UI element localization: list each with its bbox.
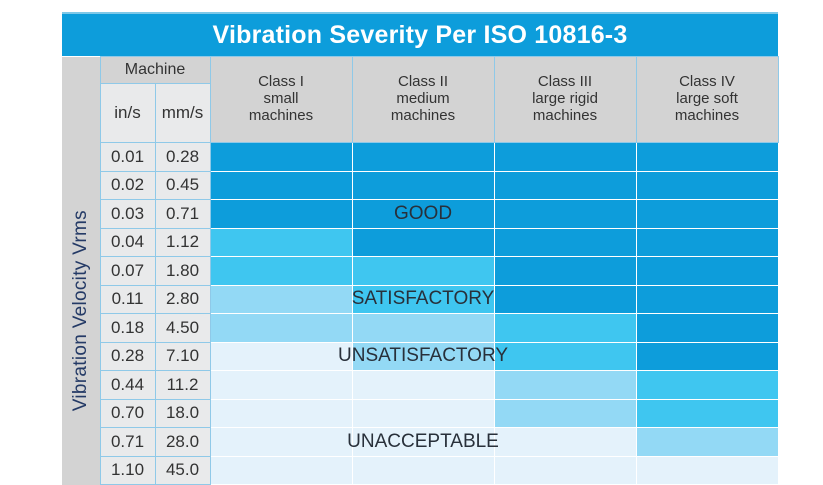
severity-cell-class-iv bbox=[636, 228, 778, 257]
severity-cell-class-iii bbox=[494, 200, 636, 229]
severity-cell-class-ii bbox=[352, 257, 494, 286]
severity-cell-class-iii bbox=[494, 428, 636, 457]
cell-in-s: 1.10 bbox=[100, 456, 155, 485]
severity-cell-class-i bbox=[210, 456, 352, 485]
severity-cell-class-ii bbox=[352, 399, 494, 428]
cell-in-s: 0.18 bbox=[100, 314, 155, 343]
severity-cell-class-ii: SATISFACTORY bbox=[352, 285, 494, 314]
severity-cell-class-ii bbox=[352, 314, 494, 343]
severity-cell-class-i bbox=[210, 314, 352, 343]
severity-cell-class-iii bbox=[494, 285, 636, 314]
cell-mm-s: 7.10 bbox=[155, 342, 210, 371]
severity-cell-class-iii bbox=[494, 314, 636, 343]
table-row: Vibration Velocity Vrms0.010.28 bbox=[62, 143, 778, 172]
severity-cell-class-i bbox=[210, 143, 352, 172]
y-axis-label: Vibration Velocity Vrms bbox=[70, 210, 92, 411]
header-class-i: Class Ismallmachines bbox=[210, 57, 352, 143]
severity-cell-class-ii: UNACCEPTABLE bbox=[352, 428, 494, 457]
cell-mm-s: 1.80 bbox=[155, 257, 210, 286]
severity-cell-class-iv bbox=[636, 285, 778, 314]
severity-cell-class-iii bbox=[494, 228, 636, 257]
severity-cell-class-i bbox=[210, 399, 352, 428]
header-class-iii: Class IIIlarge rigidmachines bbox=[494, 57, 636, 143]
header-corner-stub bbox=[62, 57, 100, 143]
severity-cell-class-ii bbox=[352, 228, 494, 257]
table-row: 0.184.50 bbox=[62, 314, 778, 343]
header-class-ii: Class IImediummachines bbox=[352, 57, 494, 143]
severity-cell-class-i bbox=[210, 228, 352, 257]
header-machine: Machine bbox=[100, 57, 210, 84]
table-row: 0.287.10UNSATISFACTORY bbox=[62, 342, 778, 371]
severity-cell-class-iii bbox=[494, 257, 636, 286]
cell-mm-s: 2.80 bbox=[155, 285, 210, 314]
header-class-iv: Class IVlarge softmachines bbox=[636, 57, 778, 143]
severity-cell-class-iv bbox=[636, 143, 778, 172]
vibration-severity-chart: Vibration Severity Per ISO 10816-3 Machi… bbox=[62, 12, 778, 482]
cell-in-s: 0.44 bbox=[100, 371, 155, 400]
cell-mm-s: 28.0 bbox=[155, 428, 210, 457]
table-row: 0.041.12 bbox=[62, 228, 778, 257]
severity-cell-class-iii bbox=[494, 456, 636, 485]
table-row: 0.112.80SATISFACTORY bbox=[62, 285, 778, 314]
severity-cell-class-i bbox=[210, 285, 352, 314]
table-row: 1.1045.0 bbox=[62, 456, 778, 485]
band-label: SATISFACTORY bbox=[352, 288, 495, 310]
severity-cell-class-ii bbox=[352, 143, 494, 172]
cell-mm-s: 0.28 bbox=[155, 143, 210, 172]
cell-in-s: 0.01 bbox=[100, 143, 155, 172]
cell-in-s: 0.07 bbox=[100, 257, 155, 286]
table-row: 0.071.80 bbox=[62, 257, 778, 286]
cell-mm-s: 4.50 bbox=[155, 314, 210, 343]
severity-cell-class-iv bbox=[636, 399, 778, 428]
severity-cell-class-iv bbox=[636, 428, 778, 457]
cell-mm-s: 1.12 bbox=[155, 228, 210, 257]
severity-cell-class-iv bbox=[636, 257, 778, 286]
band-label: GOOD bbox=[394, 203, 452, 225]
severity-cell-class-i bbox=[210, 371, 352, 400]
cell-mm-s: 11.2 bbox=[155, 371, 210, 400]
table-row: 0.030.71GOOD bbox=[62, 200, 778, 229]
table-row: 0.020.45 bbox=[62, 171, 778, 200]
severity-cell-class-iii bbox=[494, 143, 636, 172]
severity-cell-class-iv bbox=[636, 314, 778, 343]
severity-cell-class-i bbox=[210, 257, 352, 286]
band-label: UNACCEPTABLE bbox=[347, 431, 499, 453]
cell-in-s: 0.71 bbox=[100, 428, 155, 457]
cell-mm-s: 0.45 bbox=[155, 171, 210, 200]
cell-in-s: 0.11 bbox=[100, 285, 155, 314]
table-row: 0.7018.0 bbox=[62, 399, 778, 428]
severity-cell-class-ii bbox=[352, 171, 494, 200]
severity-cell-class-ii: GOOD bbox=[352, 200, 494, 229]
severity-cell-class-iii bbox=[494, 171, 636, 200]
band-label: UNSATISFACTORY bbox=[338, 345, 508, 367]
cell-in-s: 0.04 bbox=[100, 228, 155, 257]
header-unit-in-s: in/s bbox=[100, 84, 155, 143]
cell-in-s: 0.28 bbox=[100, 342, 155, 371]
severity-cell-class-i bbox=[210, 200, 352, 229]
severity-cell-class-iv bbox=[636, 200, 778, 229]
cell-in-s: 0.70 bbox=[100, 399, 155, 428]
severity-cell-class-iv bbox=[636, 371, 778, 400]
cell-mm-s: 45.0 bbox=[155, 456, 210, 485]
cell-mm-s: 18.0 bbox=[155, 399, 210, 428]
severity-table: MachineClass IsmallmachinesClass IImediu… bbox=[62, 56, 779, 485]
severity-cell-class-iii bbox=[494, 399, 636, 428]
severity-cell-class-ii bbox=[352, 371, 494, 400]
chart-title: Vibration Severity Per ISO 10816-3 bbox=[62, 12, 778, 56]
severity-cell-class-iii bbox=[494, 342, 636, 371]
table-row: 0.4411.2 bbox=[62, 371, 778, 400]
severity-cell-class-iii bbox=[494, 371, 636, 400]
severity-cell-class-ii bbox=[352, 456, 494, 485]
header-unit-mm-s: mm/s bbox=[155, 84, 210, 143]
severity-cell-class-iv bbox=[636, 456, 778, 485]
severity-cell-class-iv bbox=[636, 342, 778, 371]
severity-cell-class-i bbox=[210, 428, 352, 457]
cell-in-s: 0.03 bbox=[100, 200, 155, 229]
table-row: 0.7128.0UNACCEPTABLE bbox=[62, 428, 778, 457]
severity-cell-class-i bbox=[210, 342, 352, 371]
severity-cell-class-iv bbox=[636, 171, 778, 200]
axis-label-cell: Vibration Velocity Vrms bbox=[62, 143, 100, 485]
severity-cell-class-i bbox=[210, 171, 352, 200]
severity-cell-class-ii: UNSATISFACTORY bbox=[352, 342, 494, 371]
cell-mm-s: 0.71 bbox=[155, 200, 210, 229]
cell-in-s: 0.02 bbox=[100, 171, 155, 200]
